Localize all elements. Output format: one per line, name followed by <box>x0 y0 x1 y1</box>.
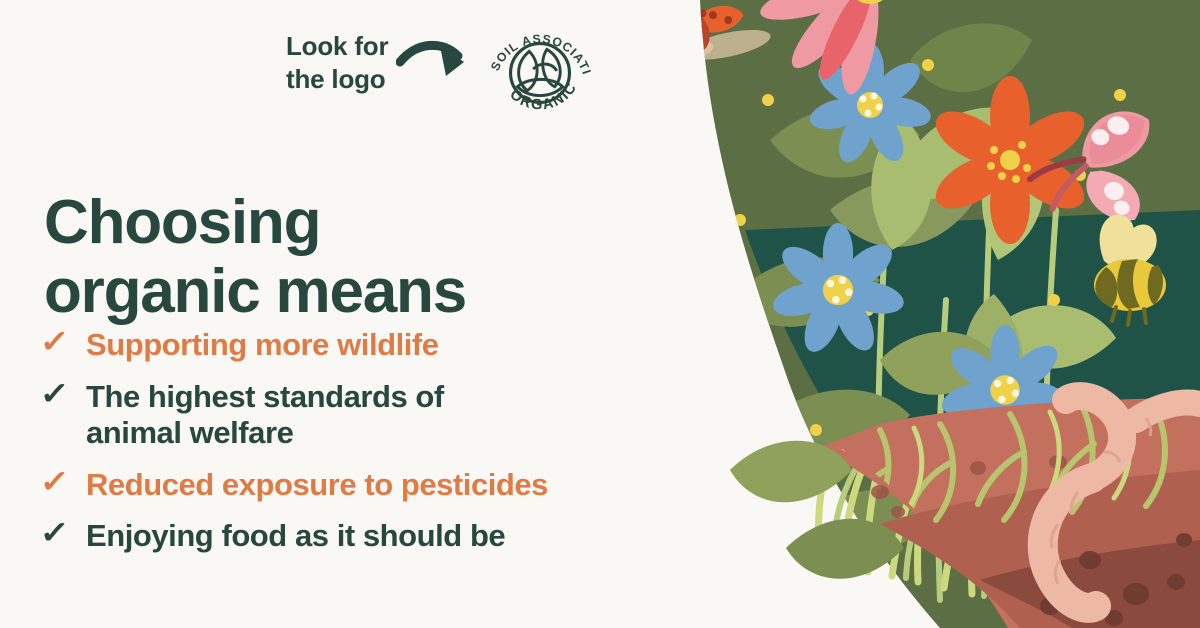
benefit-text: The highest standards of animal welfare <box>86 378 444 452</box>
benefit-text: Supporting more wildlife <box>86 326 439 364</box>
page-title: Choosing organic means <box>44 188 604 327</box>
logo-top-text: SOIL ASSOCIATION <box>486 18 594 77</box>
organic-garden-illustration <box>580 0 1200 628</box>
list-item: ✓ Enjoying food as it should be <box>40 517 665 555</box>
organic-promo-poster: Look for the logo <box>0 0 1200 628</box>
list-item: ✓ Supporting more wildlife <box>40 326 665 364</box>
check-icon: ✓ <box>39 517 74 549</box>
curved-arrow-icon <box>396 32 476 92</box>
soil-association-organic-logo: SOIL ASSOCIATION ORGANIC <box>486 18 594 126</box>
list-item: ✓ Reduced exposure to pesticides <box>40 466 665 504</box>
check-icon: ✓ <box>39 378 74 410</box>
benefit-text: Enjoying food as it should be <box>86 517 505 555</box>
logo-callout: Look for the logo <box>286 26 594 126</box>
benefit-text: Reduced exposure to pesticides <box>86 466 548 504</box>
list-item: ✓ The highest standards of animal welfar… <box>40 378 665 452</box>
svg-text:SOIL ASSOCIATION: SOIL ASSOCIATION <box>486 18 594 77</box>
check-icon: ✓ <box>39 326 74 358</box>
benefits-list: ✓ Supporting more wildlife ✓ The highest… <box>40 326 665 569</box>
logo-callout-caption: Look for the logo <box>286 26 388 97</box>
check-icon: ✓ <box>39 466 74 498</box>
